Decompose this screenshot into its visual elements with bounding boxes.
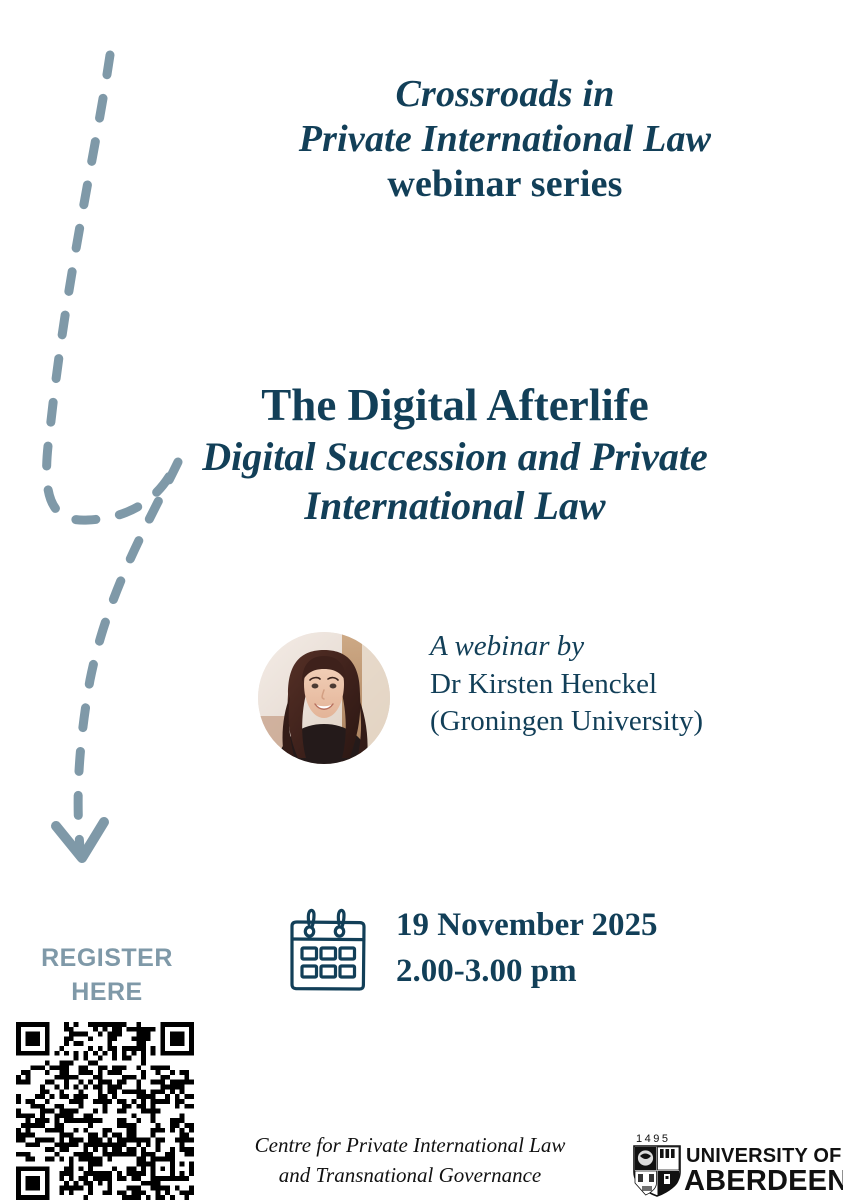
speaker-name: Dr Kirsten Henckel — [430, 666, 703, 704]
title-line-1: The Digital Afterlife — [105, 378, 805, 433]
register-label-line-1: REGISTER — [12, 942, 202, 976]
series-title-line-1: Crossroads in — [215, 72, 795, 117]
event-datetime-text: 19 November 2025 2.00-3.00 pm — [396, 902, 658, 994]
webinar-by-label: A webinar by — [430, 628, 703, 666]
speaker-affiliation: (Groningen University) — [430, 703, 703, 741]
series-title-line-2: Private International Law — [215, 117, 795, 162]
speaker-text: A webinar by Dr Kirsten Henckel (Groning… — [430, 628, 703, 741]
logo-line-2: ABERDEEN — [684, 1165, 843, 1197]
page-title: The Digital Afterlife Digital Succession… — [105, 378, 805, 530]
avatar — [258, 632, 390, 764]
series-header: Crossroads in Private International Law … — [215, 72, 795, 206]
title-line-2: Digital Succession and Private — [105, 433, 805, 482]
organiser-centre-name: Centre for Private International Law and… — [190, 1130, 630, 1191]
logo-line-1: UNIVERSITY OF — [686, 1145, 842, 1167]
speaker-block: A webinar by Dr Kirsten Henckel (Groning… — [258, 628, 818, 798]
event-datetime-block: 19 November 2025 2.00-3.00 pm — [283, 902, 763, 1002]
centre-name-line-2: and Transnational Governance — [190, 1160, 630, 1190]
register-here-label: REGISTER HERE — [12, 942, 202, 1010]
centre-name-line-1: Centre for Private International Law — [190, 1130, 630, 1160]
register-label-line-2: HERE — [12, 976, 202, 1010]
logo-founded-year: 1495 — [636, 1133, 670, 1145]
title-line-3: International Law — [105, 482, 805, 531]
webinar-poster: Crossroads in Private International Law … — [0, 0, 850, 1202]
university-of-aberdeen-logo: 1495 UNIVERSITY OF ABERDEEN — [618, 1128, 843, 1198]
event-time: 2.00-3.00 pm — [396, 948, 658, 994]
series-title-line-3: webinar series — [215, 162, 795, 207]
calendar-icon — [283, 906, 373, 994]
qr-code[interactable] — [16, 1022, 194, 1200]
aberdeen-shield-icon — [634, 1146, 680, 1196]
event-date: 19 November 2025 — [396, 902, 658, 948]
